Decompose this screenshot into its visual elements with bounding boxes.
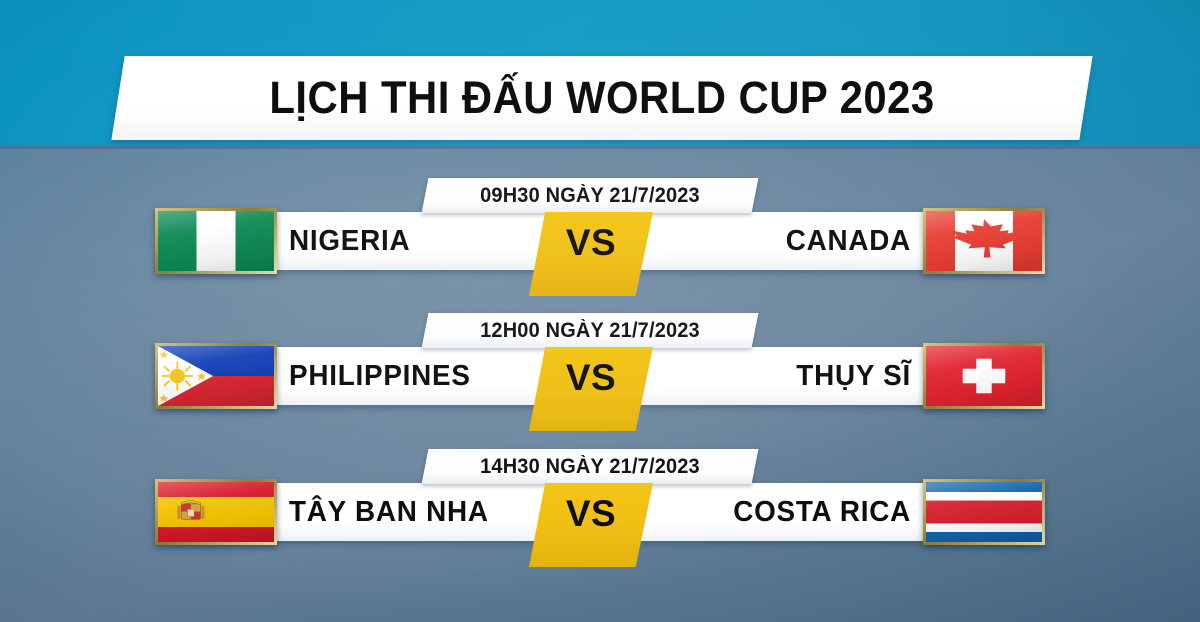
away-team-name: THỤY SĨ [671,347,911,405]
background-seam [0,146,1200,149]
spain-flag [155,479,277,545]
philippines-sun-icon [158,346,274,406]
home-team-name: PHILIPPINES [289,347,529,405]
vs-label: VS [529,483,653,545]
home-team-name: TÂY BAN NHA [289,483,529,541]
switzerland-flag [923,343,1045,409]
nigeria-flag [155,208,277,274]
spain-coat-of-arms-icon [158,482,274,542]
away-team-name: COSTA RICA [671,483,911,541]
vs-label: VS [529,212,653,274]
match-row[interactable]: 12H00 NGÀY 21/7/2023 [0,313,1200,453]
costarica-flag [923,479,1045,545]
match-time: 09H30 NGÀY 21/7/2023 [433,178,747,213]
maple-leaf-icon [926,211,1042,271]
home-team-name: NIGERIA [289,212,529,270]
match-time: 14H30 NGÀY 21/7/2023 [433,449,747,484]
match-row[interactable]: 14H30 NGÀY 21/7/2023 TÂY BAN NHA [0,449,1200,589]
match-row[interactable]: 09H30 NGÀY 21/7/2023 NIGERIA VS CANADA [0,178,1200,318]
vs-label: VS [529,347,653,409]
swiss-cross-icon [926,346,1042,406]
page-title: LỊCH THI ĐẤU WORLD CUP 2023 [152,56,1052,140]
away-team-name: CANADA [671,212,911,270]
match-time: 12H00 NGÀY 21/7/2023 [433,313,747,348]
philippines-flag [155,343,277,409]
poster-canvas: LỊCH THI ĐẤU WORLD CUP 2023 09H30 NGÀY 2… [0,0,1200,622]
canada-flag [923,208,1045,274]
